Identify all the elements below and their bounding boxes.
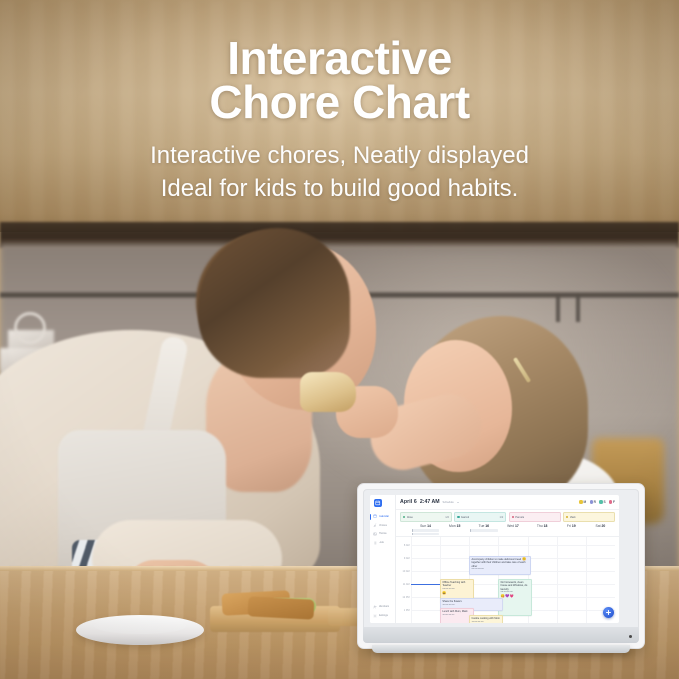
sidebar-label: Settings (379, 614, 388, 617)
status-led (629, 635, 632, 638)
sidebar-item-settings[interactable]: Settings (370, 611, 395, 620)
day-number: 15 (457, 524, 461, 528)
event-time: 09:00-11:00 (501, 591, 530, 594)
all-day-event[interactable] (412, 529, 440, 532)
headline-block: Interactive Chore Chart Interactive chor… (0, 36, 679, 204)
member-dot (579, 500, 582, 503)
day-name: Thu (537, 524, 543, 528)
sidebar-label: Members (379, 605, 390, 608)
day-name: Wed (507, 524, 514, 528)
rail-hook (576, 296, 580, 322)
day-number: 20 (602, 524, 606, 528)
event-reaction[interactable]: 😊 (522, 557, 526, 561)
chore-calendar-app: Calendar Chores (370, 495, 619, 623)
chore-dot (403, 516, 405, 518)
all-day-gutter (400, 529, 411, 536)
sidebar-item-chores[interactable]: Chores (370, 521, 395, 530)
member-dot (590, 500, 593, 503)
time-label: 12 PM (402, 596, 409, 599)
chore-label: Pamela (515, 516, 524, 519)
event-time: 09:00-10:00 (442, 588, 471, 591)
plate-inner (94, 618, 186, 634)
event-title: Offline Teaching with Teacher (442, 581, 471, 587)
gear-icon (373, 614, 377, 618)
event-reaction[interactable]: 😋💜💗 (501, 595, 530, 599)
headline-line-1: Interactive (0, 36, 679, 80)
add-event-fab[interactable] (603, 607, 614, 618)
event-reaction[interactable]: 😀 (442, 592, 471, 596)
tablet-screen: Calendar Chores (370, 495, 619, 623)
view-mode-label[interactable]: Schedule (443, 501, 454, 504)
member-chip[interactable]: M (579, 500, 586, 504)
member-initial: M (584, 500, 587, 504)
sidebar-item-calendar[interactable]: Calendar (370, 512, 395, 521)
day-number: 17 (515, 524, 519, 528)
week-grid[interactable]: 8 AM 9 AM 10 AM 11 AM 12 PM 1 PM (396, 537, 619, 623)
event-title: Do homework, clean house and Windows, do… (501, 581, 530, 590)
current-date: April 6 (400, 499, 417, 505)
day-columns[interactable]: Accompany children to make delicious bre… (411, 537, 615, 623)
event-time: 10:00-10:30 (442, 604, 500, 607)
member-chip[interactable]: S (599, 500, 605, 504)
day-name: Sat (596, 524, 601, 528)
day-number: 19 (572, 524, 576, 528)
chore-chip[interactable]: Rose 1/2 (400, 512, 452, 521)
sidebar-item-photos[interactable]: Photos (370, 530, 395, 539)
sandwich-in-hand (300, 372, 356, 412)
chore-chip-row: Rose 1/2 Garrett 1/2 Pamela (396, 510, 619, 523)
calendar-icon (373, 514, 377, 518)
app-topbar: April 6 2:47 AM Schedule M (396, 495, 619, 510)
all-day-cell[interactable] (440, 529, 469, 536)
day-name: Sun (420, 524, 426, 528)
sidebar-label: Calendar (379, 515, 390, 518)
chevron-down-icon[interactable] (457, 502, 459, 503)
time-label: 1 PM (404, 609, 410, 612)
time-axis: 8 AM 9 AM 10 AM 11 AM 12 PM 1 PM (400, 537, 411, 623)
calendar-event[interactable]: Do homework, clean house and Windows, do… (498, 579, 532, 616)
chore-chip[interactable]: Garrett 1/2 (454, 512, 506, 521)
chore-label: Rose (407, 516, 413, 519)
tablet-device: Calendar Chores (357, 483, 645, 649)
event-time: 11:00-11:45 (442, 614, 471, 617)
sidebar-label: Lists (379, 541, 384, 544)
tablet-chin (363, 627, 639, 643)
day-number: 16 (485, 524, 489, 528)
app-main: April 6 2:47 AM Schedule M (396, 495, 619, 623)
member-initial: F (613, 500, 615, 504)
time-label: 10 AM (403, 570, 410, 573)
member-legend: M R S F (579, 500, 615, 504)
current-time: 2:47 AM (420, 499, 440, 505)
event-time: 11:00-12:00 (471, 621, 500, 623)
day-name: Tue (479, 524, 485, 528)
mother-hair (198, 228, 350, 378)
sidebar-label: Photos (379, 532, 387, 535)
sidebar-item-members[interactable]: Members (370, 602, 395, 611)
chore-label: Garrett (461, 516, 469, 519)
all-day-event[interactable] (470, 529, 498, 532)
rail-hook (556, 296, 560, 322)
time-label: 8 AM (404, 544, 410, 547)
member-dot (609, 500, 612, 503)
headline-line-2: Chore Chart (0, 80, 679, 124)
time-label: 11 AM (403, 583, 410, 586)
member-chip[interactable]: F (609, 500, 615, 504)
all-day-cell[interactable] (411, 529, 440, 536)
sandwich-slice (248, 596, 315, 619)
photo-icon (373, 532, 377, 536)
tablet-stand (372, 645, 630, 653)
chore-chip[interactable]: Mark (563, 512, 615, 521)
list-icon (373, 541, 377, 545)
subheadline-line-1: Interactive chores, Neatly displayed (0, 140, 679, 171)
marketing-banner: Interactive Chore Chart Interactive chor… (0, 0, 679, 679)
app-logo (374, 499, 382, 507)
app-sidebar: Calendar Chores (370, 495, 396, 623)
day-number: 18 (544, 524, 548, 528)
chore-chip[interactable]: Pamela (509, 512, 561, 521)
chore-dot (457, 516, 459, 518)
all-day-cell[interactable] (557, 529, 586, 536)
day-number: 14 (427, 524, 431, 528)
calendar-event[interactable]: Cookie cooking with Mom 11:00-12:00 🍪 (469, 615, 503, 623)
member-dot (599, 500, 602, 503)
chore-count: 1/2 (445, 516, 449, 519)
day-name: Mon (449, 524, 456, 528)
sidebar-label: Chores (379, 524, 387, 527)
all-day-cell[interactable] (469, 529, 498, 536)
member-initial: S (603, 500, 605, 504)
event-title: Accompany children to make delicious bre… (471, 558, 528, 567)
time-label: 9 AM (404, 557, 410, 560)
event-time: 08:00-09:00 (471, 568, 528, 571)
people-icon (373, 605, 377, 609)
all-day-cell[interactable] (528, 529, 557, 536)
chore-dot (512, 516, 514, 518)
sidebar-spacer (370, 547, 395, 602)
all-day-cell[interactable] (498, 529, 527, 536)
all-day-row (396, 529, 619, 537)
all-day-event[interactable] (412, 533, 440, 536)
cup-handle (14, 312, 46, 344)
day-name: Fri (567, 524, 571, 528)
sidebar-item-lists[interactable]: Lists (370, 538, 395, 547)
chore-dot (566, 516, 568, 518)
broom-icon (373, 523, 377, 527)
member-initial: R (594, 500, 596, 504)
member-chip[interactable]: R (590, 500, 596, 504)
chore-label: Mark (570, 516, 576, 519)
all-day-cell[interactable] (586, 529, 615, 536)
subheadline-line-2: Ideal for kids to build good habits. (0, 173, 679, 204)
chore-count: 1/2 (500, 516, 504, 519)
